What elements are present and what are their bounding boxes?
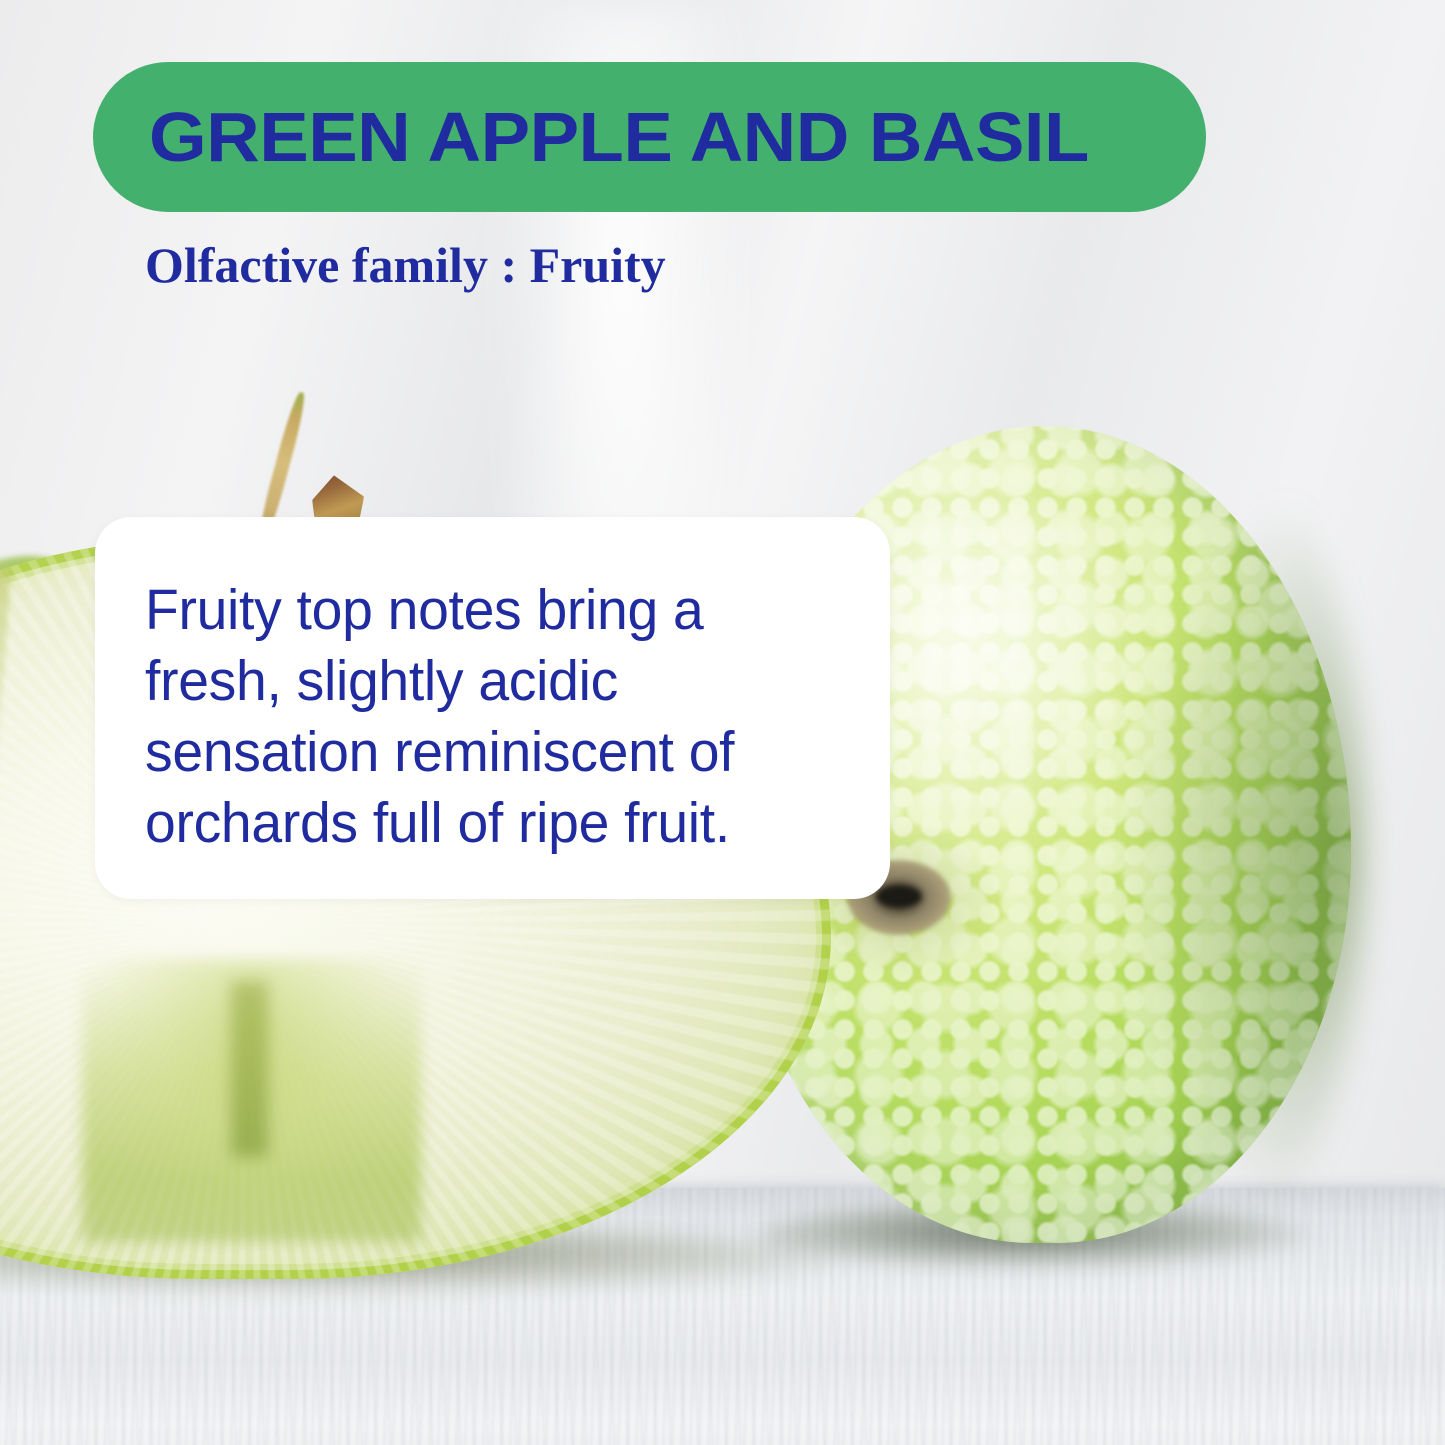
apple-right-shading: [1105, 459, 1363, 1226]
title-banner: GREEN APPLE AND BASIL: [93, 62, 1206, 212]
page-title: GREEN APPLE AND BASIL: [149, 102, 1089, 172]
olfactive-family-label: Olfactive family : Fruity: [145, 240, 666, 290]
description-text: Fruity top notes bring a fresh, slightly…: [145, 575, 843, 859]
poster-canvas: GREEN APPLE AND BASIL Olfactive family :…: [0, 0, 1445, 1445]
description-card: Fruity top notes bring a fresh, slightly…: [95, 517, 890, 899]
apple-seed-cavity: [82, 959, 421, 1242]
